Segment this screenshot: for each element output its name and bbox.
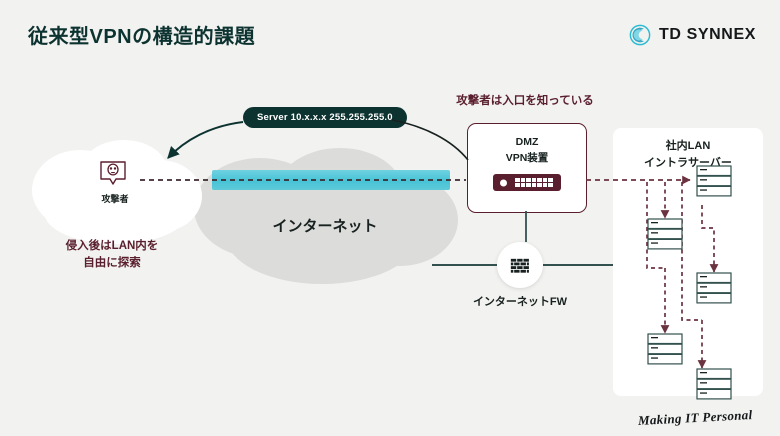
- internet-firewall-node: [497, 242, 543, 288]
- lan-title-line2: イントラサーバー: [613, 155, 763, 172]
- entry-known-note: 攻撃者は入口を知っている: [430, 92, 620, 108]
- attacker-label: 攻撃者: [60, 192, 170, 205]
- internet-firewall-label: インターネットFW: [452, 293, 588, 309]
- attacker-lateral-note: 侵入後はLAN内を 自由に探索: [22, 238, 202, 271]
- dmz-vpn-box: DMZ VPN装置: [467, 123, 587, 213]
- slide-canvas: 従来型VPNの構造的課題 TD SYNNEX: [0, 0, 780, 436]
- internet-label: インターネット: [215, 215, 435, 236]
- internal-lan-panel: 社内LAN イントラサーバー: [613, 128, 763, 396]
- vpn-tunnel-bar: [212, 170, 450, 190]
- td-synnex-swirl-icon: [629, 24, 651, 46]
- server-address-pill: Server 10.x.x.x 255.255.255.0: [243, 107, 407, 128]
- brand-logo-text: TD SYNNEX: [659, 26, 756, 44]
- attacker-lateral-note-line1: 侵入後はLAN内を: [22, 238, 202, 255]
- vpn-appliance-icon: [493, 174, 561, 191]
- dmz-title-line1: DMZ: [468, 135, 586, 151]
- lan-title: 社内LAN イントラサーバー: [613, 138, 763, 171]
- attacker-lateral-note-line2: 自由に探索: [22, 255, 202, 272]
- dmz-title: DMZ VPN装置: [468, 135, 586, 167]
- attacker-skull-bubble-icon: [97, 158, 129, 190]
- page-title: 従来型VPNの構造的課題: [28, 20, 255, 49]
- brand-logo: TD SYNNEX: [629, 24, 756, 46]
- dmz-title-line2: VPN装置: [468, 151, 586, 167]
- brick-wall-firewall-icon: [510, 257, 530, 274]
- vpn-appliance-power-led: [500, 179, 507, 186]
- footer-tagline: Making IT Personal: [637, 407, 752, 429]
- vpn-appliance-port-grid: [515, 178, 553, 187]
- lan-title-line1: 社内LAN: [613, 138, 763, 155]
